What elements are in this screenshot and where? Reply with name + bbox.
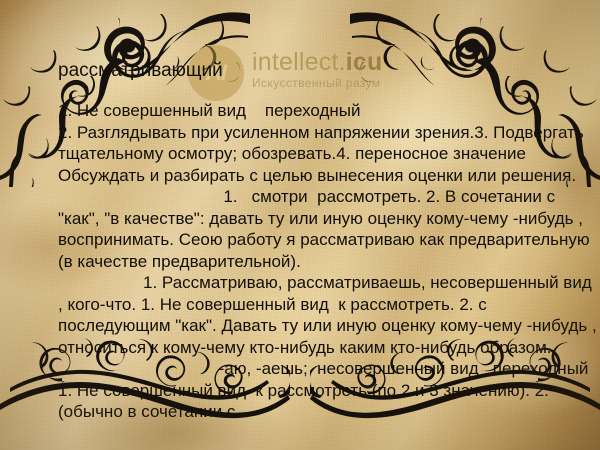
- page-title: рассматривающий: [58, 60, 598, 82]
- definition-paragraph-2: 1. смотри рассмотреть. 2. В сочетании с …: [58, 186, 598, 272]
- definition-paragraph-4: -аю, -аешь; несовершенный вид переходный…: [58, 358, 598, 423]
- slide-canvas: AI intellect.icu Искусственный разум рас…: [0, 0, 600, 450]
- definition-paragraph-1: 1. Не совершенный вид переходный 2. Разг…: [58, 100, 598, 186]
- definition-paragraph-3: 1. Рассматриваю, рассматриваешь, несовер…: [58, 272, 598, 358]
- document-body: рассматривающий 1. Не совершенный вид пе…: [58, 60, 598, 423]
